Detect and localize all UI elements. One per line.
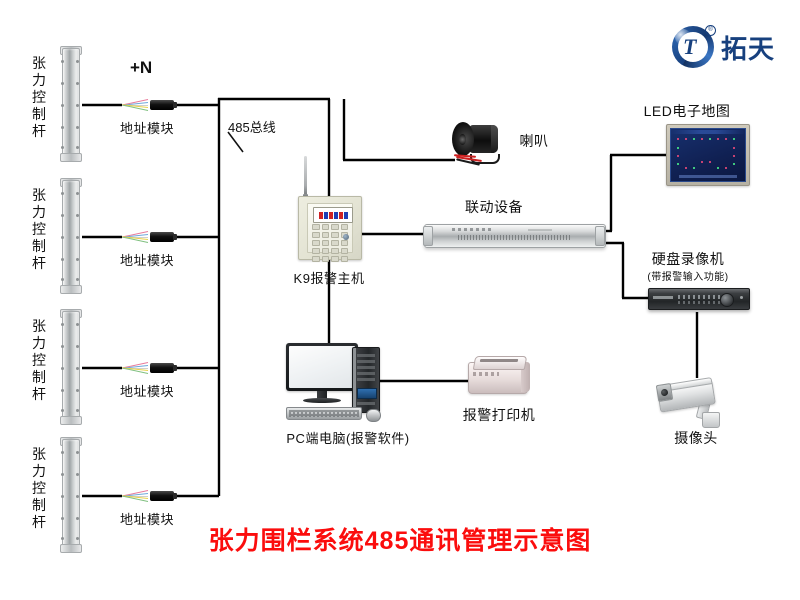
pc-tower-icon [352, 347, 380, 413]
printer-paper-slot-icon [480, 359, 519, 362]
alarm-printer-label: 报警打印机 [448, 405, 550, 425]
dvr-sub-label: (带报警输入功能) [628, 268, 748, 283]
address-module-3 [120, 359, 174, 377]
keyboard-icon [286, 407, 362, 420]
expand-count-label: +N [130, 58, 152, 78]
alarm-horn-label: 喇叭 [508, 131, 560, 151]
linkage-device [424, 224, 604, 250]
camera-lens-icon [656, 383, 673, 402]
dvr-label: 硬盘录像机 [628, 249, 748, 269]
pole-label-3: 张力控制杆 [30, 318, 48, 403]
brand-mark-icon: T ® [672, 26, 714, 68]
address-module-1-label: 地址模块 [110, 118, 184, 137]
tension-pole-1 [60, 48, 80, 160]
dvr-jog-dial-icon [720, 293, 734, 307]
led-map-label: LED电子地图 [632, 101, 742, 121]
diagram-canvas: T ® 拓天 +N 485总线 张力控制杆 地址模块 张力控制杆 [0, 0, 800, 600]
pole-label-2-text: 张力控制杆 [30, 187, 48, 272]
surveillance-camera [658, 376, 736, 434]
host-indicator-icon [343, 234, 349, 240]
bus-label: 485总线 [228, 117, 276, 136]
tension-pole-3 [60, 311, 80, 423]
tension-pole-2 [60, 180, 80, 292]
host-lcd-display [313, 207, 353, 223]
brand-logo: T ® 拓天 [672, 26, 775, 68]
k9-alarm-host [298, 196, 360, 258]
alarm-horn [452, 118, 512, 166]
registered-icon: ® [705, 25, 716, 36]
pole-label-4-text: 张力控制杆 [30, 446, 48, 531]
printer-button-panel [473, 372, 499, 376]
monitor-icon [286, 343, 358, 391]
pc-label: PC端电脑(报警软件) [258, 428, 438, 447]
mouse-icon [366, 409, 381, 422]
pole-label-1: 张力控制杆 [30, 55, 48, 140]
dvr-power-led-icon [740, 296, 743, 299]
pole-label-1-text: 张力控制杆 [30, 55, 48, 140]
pole-label-3-text: 张力控制杆 [30, 318, 48, 403]
pc-workstation [286, 343, 396, 423]
linkage-device-label: 联动设备 [444, 197, 544, 217]
host-keypad [312, 224, 348, 264]
camera-label: 摄像头 [646, 428, 746, 448]
pole-label-4: 张力控制杆 [30, 446, 48, 531]
address-module-3-label: 地址模块 [110, 381, 184, 400]
address-module-4 [120, 487, 174, 505]
brand-name: 拓天 [721, 29, 775, 66]
antenna-icon [304, 156, 307, 198]
led-electronic-map [666, 124, 750, 186]
led-map-screen [670, 128, 746, 182]
brand-mark-letter: T [683, 34, 703, 60]
k9-alarm-host-label: K9报警主机 [278, 268, 380, 287]
address-module-2 [120, 228, 174, 246]
diagram-title: 张力围栏系统485通讯管理示意图 [0, 521, 800, 557]
pole-label-2: 张力控制杆 [30, 187, 48, 272]
address-module-2-label: 地址模块 [110, 250, 184, 269]
hard-disk-recorder [648, 288, 748, 312]
address-module-1 [120, 96, 174, 114]
alarm-printer [468, 354, 530, 398]
